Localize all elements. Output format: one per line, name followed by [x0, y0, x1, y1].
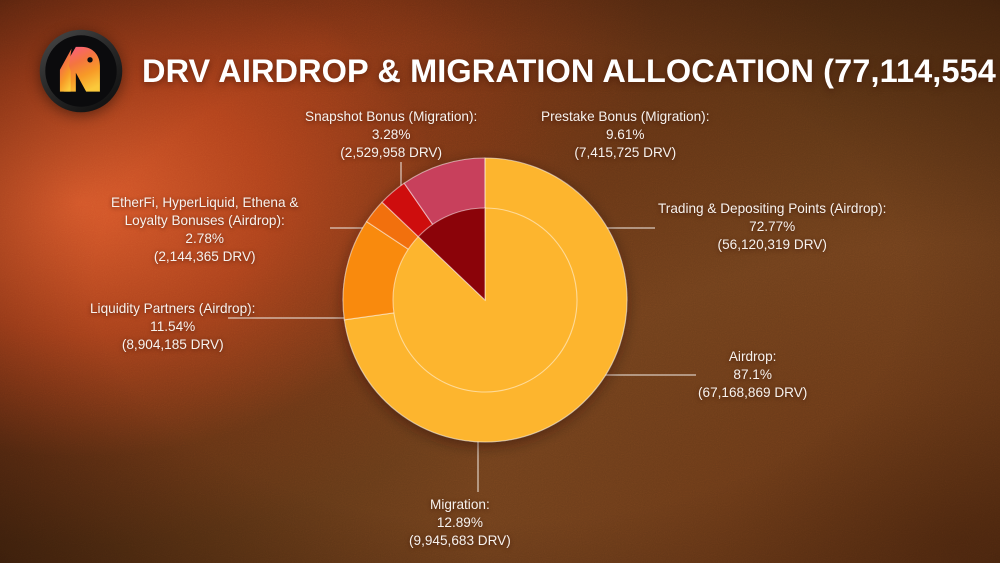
callout-migration: Migration: 12.89% (9,945,683 DRV): [409, 496, 511, 550]
callout-liquidity-partners-amount: (8,904,185 DRV): [90, 336, 255, 354]
callout-prestake-bonus: Prestake Bonus (Migration): 9.61% (7,415…: [541, 108, 709, 162]
callout-trading-depositing-label: Trading & Depositing Points (Airdrop):: [658, 200, 886, 218]
callout-migration-label: Migration:: [409, 496, 511, 514]
callout-migration-percent: 12.89%: [409, 514, 511, 532]
page-title: DRV AIRDROP & MIGRATION ALLOCATION (77,1…: [142, 53, 1000, 90]
callout-trading-depositing-amount: (56,120,319 DRV): [658, 236, 886, 254]
drv-coin-logo-icon: [38, 28, 124, 114]
callout-etherfi-bonuses-amount: (2,144,365 DRV): [111, 248, 298, 266]
callout-liquidity-partners-label: Liquidity Partners (Airdrop):: [90, 300, 255, 318]
callout-prestake-bonus-label: Prestake Bonus (Migration):: [541, 108, 709, 126]
callout-etherfi-bonuses: EtherFi, HyperLiquid, Ethena & Loyalty B…: [111, 194, 298, 266]
callout-trading-depositing-percent: 72.77%: [658, 218, 886, 236]
inner-ring-group: [393, 208, 577, 392]
callout-airdrop: Airdrop: 87.1% (67,168,869 DRV): [698, 348, 807, 402]
callout-prestake-bonus-amount: (7,415,725 DRV): [541, 144, 709, 162]
header: DRV AIRDROP & MIGRATION ALLOCATION (77,1…: [38, 28, 1000, 114]
callout-etherfi-bonuses-label-line2: Loyalty Bonuses (Airdrop):: [111, 212, 298, 230]
callout-liquidity-partners-percent: 11.54%: [90, 318, 255, 336]
callout-airdrop-amount: (67,168,869 DRV): [698, 384, 807, 402]
callout-snapshot-bonus-label: Snapshot Bonus (Migration):: [305, 108, 477, 126]
callout-migration-amount: (9,945,683 DRV): [409, 532, 511, 550]
callout-liquidity-partners: Liquidity Partners (Airdrop): 11.54% (8,…: [90, 300, 255, 354]
callout-etherfi-bonuses-label-line1: EtherFi, HyperLiquid, Ethena &: [111, 194, 298, 212]
callout-trading-depositing: Trading & Depositing Points (Airdrop): 7…: [658, 200, 886, 254]
callout-snapshot-bonus: Snapshot Bonus (Migration): 3.28% (2,529…: [305, 108, 477, 162]
callout-snapshot-bonus-amount: (2,529,958 DRV): [305, 144, 477, 162]
callout-airdrop-label: Airdrop:: [698, 348, 807, 366]
callout-prestake-bonus-percent: 9.61%: [541, 126, 709, 144]
callout-airdrop-percent: 87.1%: [698, 366, 807, 384]
callout-snapshot-bonus-percent: 3.28%: [305, 126, 477, 144]
infographic-canvas: DRV AIRDROP & MIGRATION ALLOCATION (77,1…: [0, 0, 1000, 563]
callout-etherfi-bonuses-percent: 2.78%: [111, 230, 298, 248]
